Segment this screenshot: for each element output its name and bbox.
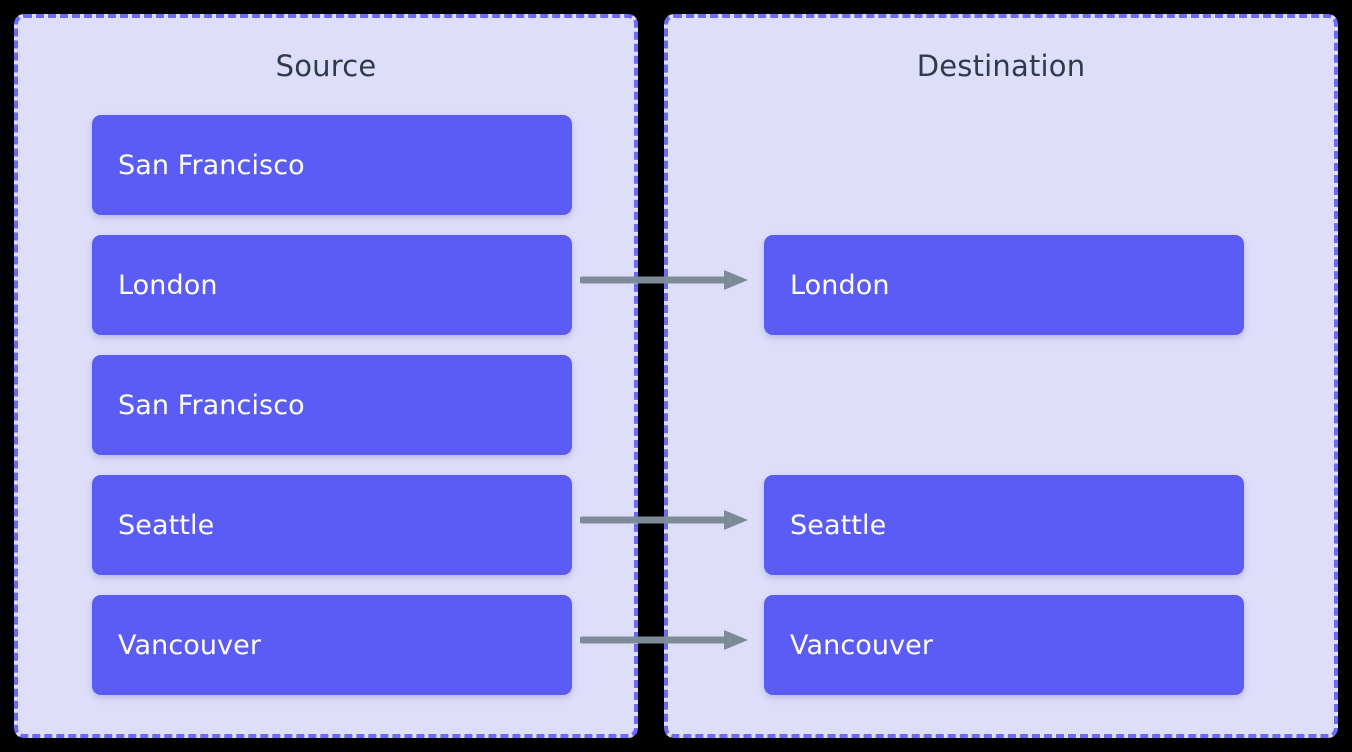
source-card-label: London bbox=[118, 272, 218, 299]
destination-card-label: Vancouver bbox=[790, 632, 933, 659]
diagram-canvas: Source San Francisco London San Francisc… bbox=[0, 0, 1352, 752]
destination-panel: Destination London Seattle Vancouver bbox=[664, 14, 1338, 738]
source-card-label: San Francisco bbox=[118, 392, 305, 419]
source-panel-title: Source bbox=[18, 52, 634, 81]
destination-panel-title: Destination bbox=[668, 52, 1334, 81]
destination-card-vancouver[interactable]: Vancouver bbox=[764, 595, 1244, 695]
source-panel: Source San Francisco London San Francisc… bbox=[14, 14, 638, 738]
source-card-label: Vancouver bbox=[118, 632, 261, 659]
source-card-london[interactable]: London bbox=[92, 235, 572, 335]
source-card-seattle[interactable]: Seattle bbox=[92, 475, 572, 575]
destination-card-london[interactable]: London bbox=[764, 235, 1244, 335]
destination-card-label: Seattle bbox=[790, 512, 886, 539]
source-card-san-francisco-2[interactable]: San Francisco bbox=[92, 355, 572, 455]
destination-card-seattle[interactable]: Seattle bbox=[764, 475, 1244, 575]
source-card-san-francisco-1[interactable]: San Francisco bbox=[92, 115, 572, 215]
source-card-label: San Francisco bbox=[118, 152, 305, 179]
source-card-vancouver[interactable]: Vancouver bbox=[92, 595, 572, 695]
destination-card-label: London bbox=[790, 272, 890, 299]
source-card-label: Seattle bbox=[118, 512, 214, 539]
